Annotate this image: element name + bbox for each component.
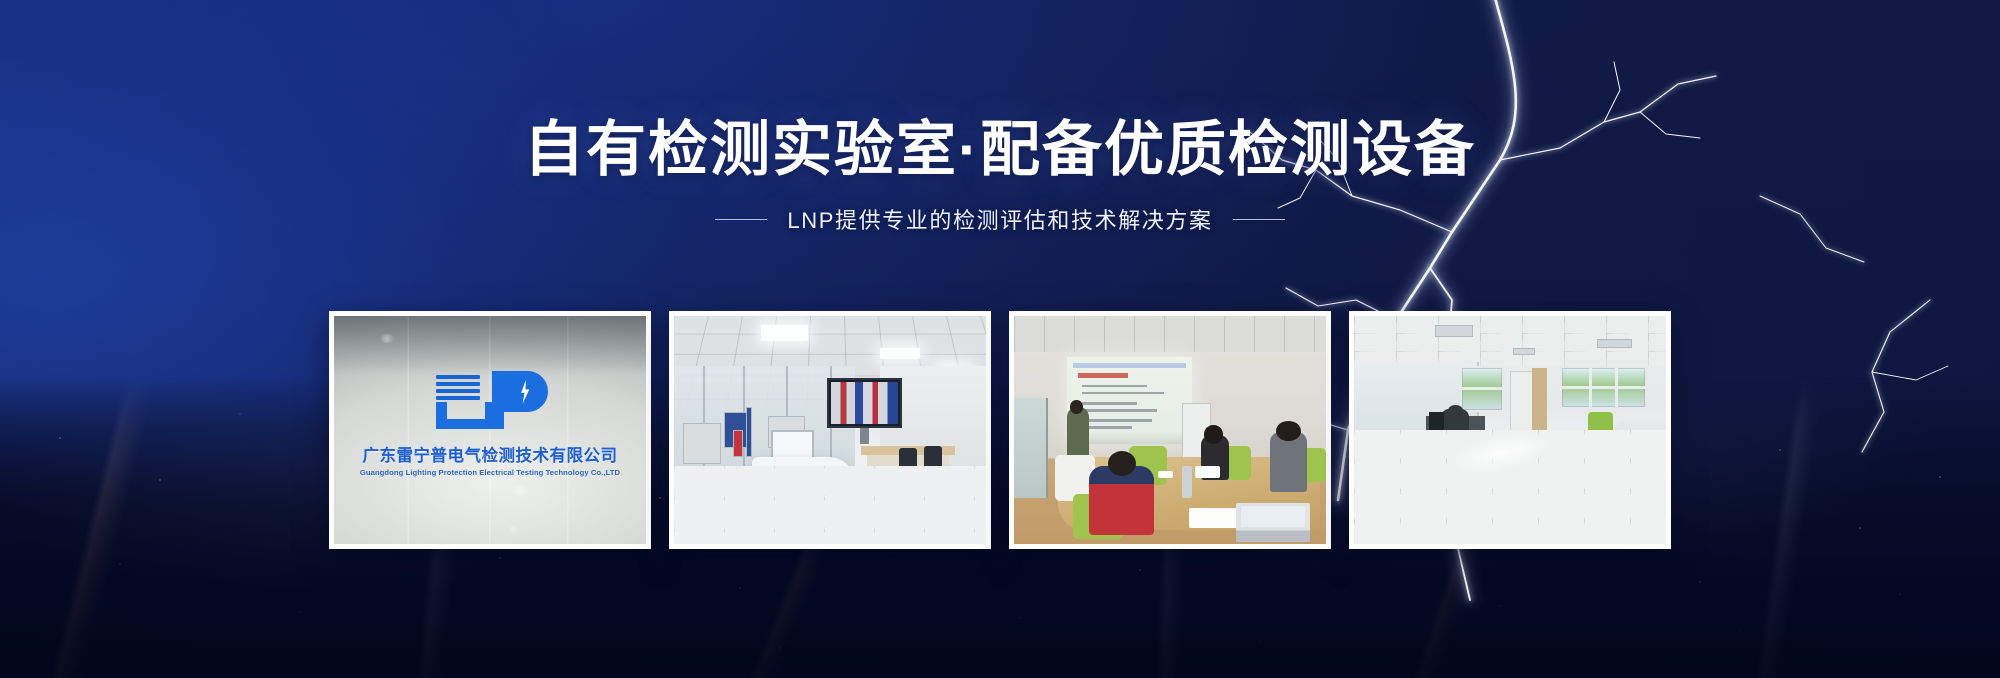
dash-right-icon bbox=[1233, 219, 1285, 220]
person-presenter bbox=[1067, 407, 1089, 462]
window bbox=[1560, 366, 1647, 409]
photo-office-area bbox=[1354, 316, 1666, 544]
test-equipment bbox=[733, 430, 742, 457]
subtitle-row: LNP提供专业的检测评估和技术解决方案 bbox=[0, 203, 2000, 235]
page-title: 自有检测实验室·配备优质检测设备 bbox=[0, 0, 2000, 183]
wall-highlight bbox=[478, 453, 488, 458]
lnp-logo-icon bbox=[426, 371, 554, 429]
lab-floor bbox=[674, 466, 986, 544]
glass-door bbox=[1014, 398, 1048, 498]
page-subtitle: LNP提供专业的检测评估和技术解决方案 bbox=[787, 203, 1212, 235]
paper-document bbox=[1189, 508, 1239, 529]
test-equipment bbox=[683, 423, 720, 464]
person-seated-right bbox=[1270, 432, 1307, 491]
window bbox=[1460, 366, 1504, 412]
wooden-shelf bbox=[1532, 368, 1548, 432]
wall-highlight bbox=[506, 526, 520, 533]
paper-document bbox=[1158, 471, 1174, 478]
company-name-cn: 广东雷宁普电气检测技术有限公司 bbox=[334, 442, 646, 466]
gallery-item-meeting-room[interactable] bbox=[1009, 311, 1331, 549]
paper-document bbox=[1195, 466, 1220, 477]
logo-block: 广东雷宁普电气检测技术有限公司 Guangdong Lighting Prote… bbox=[334, 371, 646, 477]
gallery-item-company-logo-wall[interactable]: 广东雷宁普电气检测技术有限公司 Guangdong Lighting Prote… bbox=[329, 311, 651, 549]
gallery-item-testing-laboratory[interactable] bbox=[669, 311, 991, 549]
person-head bbox=[1108, 451, 1136, 476]
laptop bbox=[1236, 503, 1311, 542]
photo-gallery: 广东雷宁普电气检测技术有限公司 Guangdong Lighting Prote… bbox=[0, 311, 2000, 549]
wall-monitor bbox=[827, 378, 902, 428]
photo-meeting-room bbox=[1014, 316, 1326, 544]
test-equipment bbox=[746, 407, 752, 457]
company-name-en: Guangdong Lighting Protection Electrical… bbox=[334, 468, 646, 477]
person-seated-front bbox=[1089, 466, 1155, 534]
person-head bbox=[1070, 400, 1082, 414]
ceiling-vent bbox=[1435, 325, 1472, 336]
meeting-ceiling bbox=[1014, 316, 1326, 352]
ceiling-light bbox=[761, 325, 808, 341]
gallery-item-office-area[interactable] bbox=[1349, 311, 1671, 549]
monitor-stand bbox=[860, 428, 869, 444]
wall-highlight bbox=[509, 485, 531, 496]
photo-company-logo-wall: 广东雷宁普电气检测技术有限公司 Guangdong Lighting Prote… bbox=[334, 316, 646, 544]
ceiling-light bbox=[880, 348, 921, 359]
person-head bbox=[1204, 425, 1223, 443]
banner-headings: 自有检测实验室·配备优质检测设备 LNP提供专业的检测评估和技术解决方案 bbox=[0, 0, 2000, 235]
banner-hero: 自有检测实验室·配备优质检测设备 LNP提供专业的检测评估和技术解决方案 广东雷… bbox=[0, 0, 2000, 678]
desktop-monitor bbox=[1429, 412, 1445, 430]
ceiling-vent bbox=[1513, 348, 1535, 355]
dash-left-icon bbox=[715, 219, 767, 220]
ceiling-vent bbox=[1597, 339, 1631, 348]
photo-testing-laboratory bbox=[674, 316, 986, 544]
wall-top-shade bbox=[334, 316, 646, 375]
water-bottle bbox=[1182, 466, 1191, 498]
